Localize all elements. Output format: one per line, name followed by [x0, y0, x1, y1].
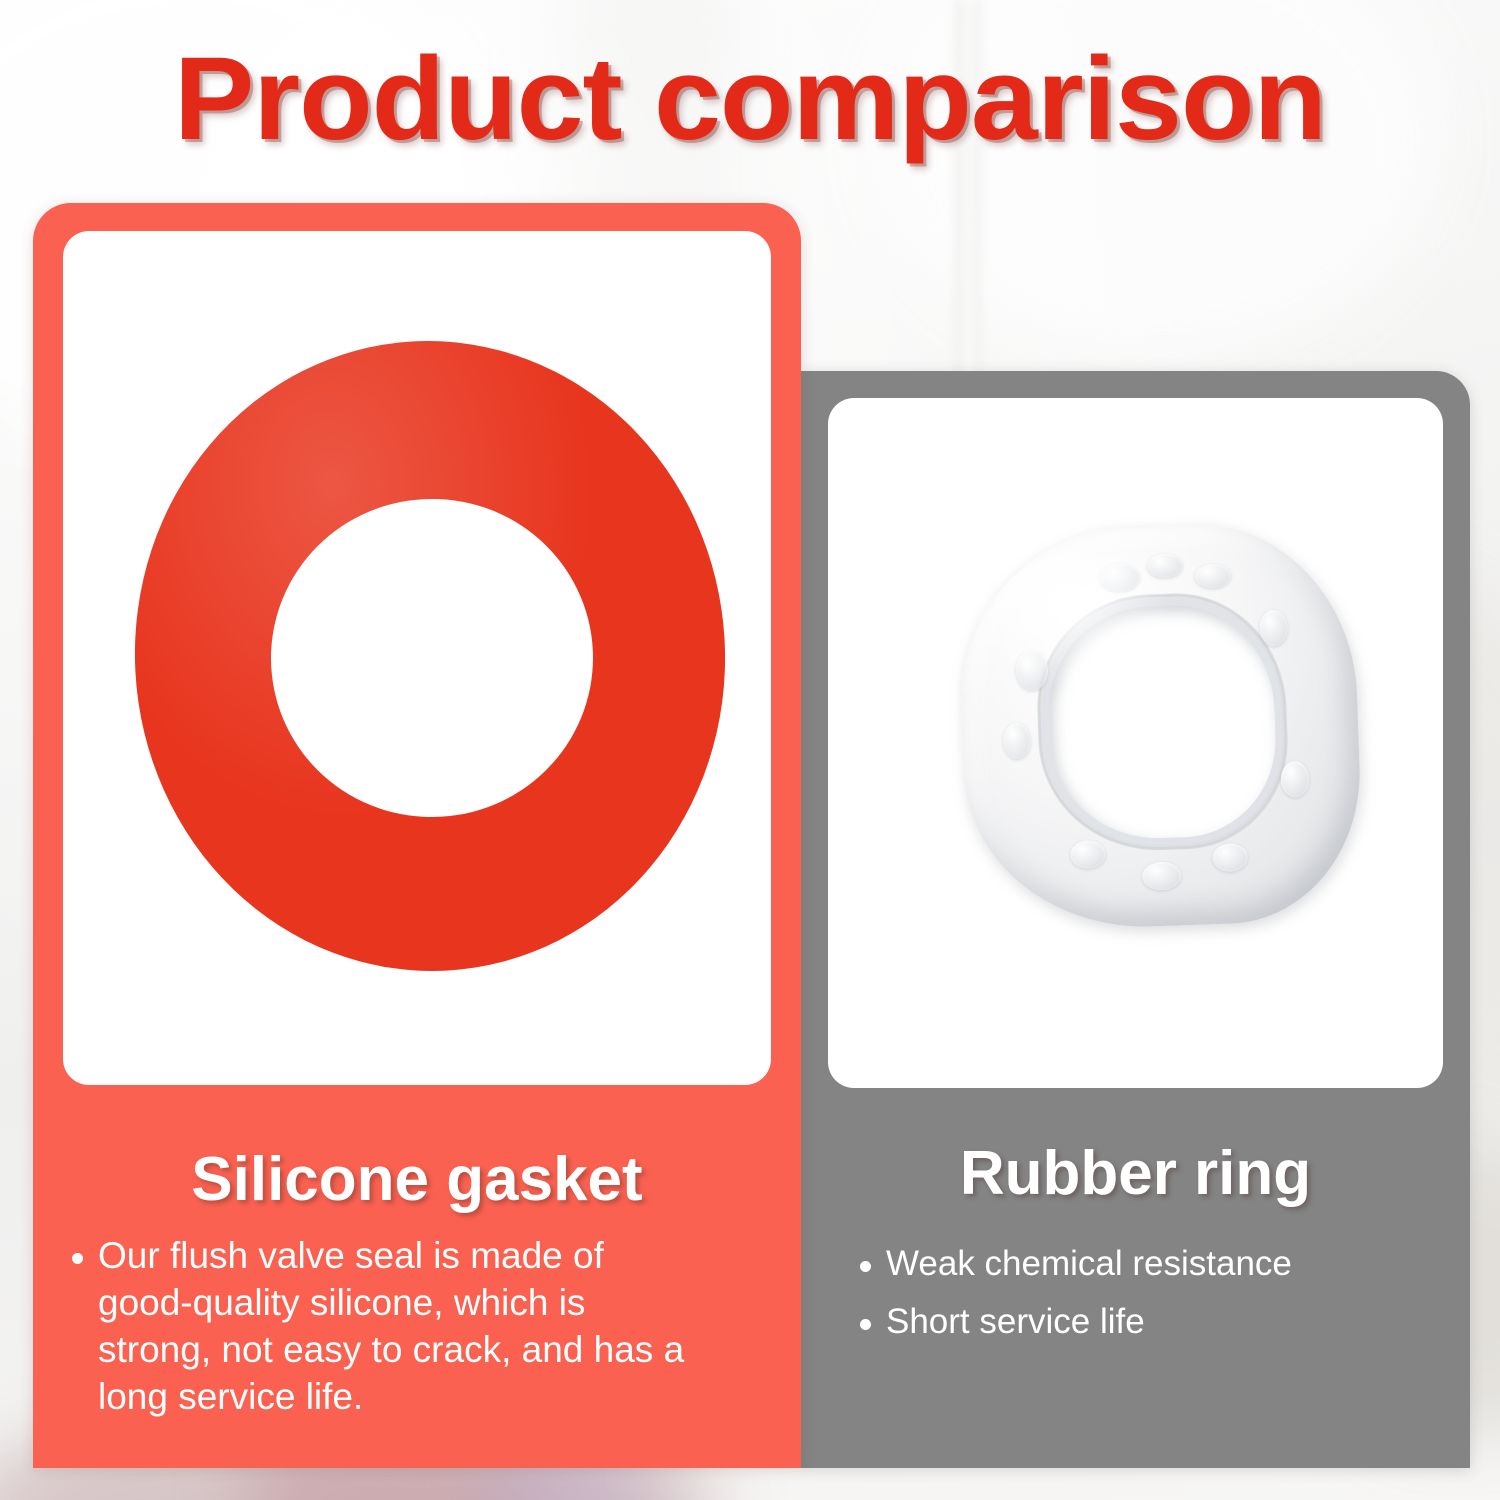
- rubber-ring-hole: [1046, 602, 1279, 842]
- rubber-ring-bump: [1280, 761, 1309, 798]
- product-comparison-page: Product comparison: [0, 0, 1500, 1500]
- page-title: Product comparison: [0, 40, 1500, 158]
- card-rubber-ring: [801, 371, 1470, 1468]
- red-silicone-ring-icon: [135, 341, 725, 971]
- product-photo-silicone-gasket: [63, 231, 771, 1085]
- product-photo-rubber-ring: [828, 398, 1443, 1088]
- white-rubber-ring-icon: [956, 519, 1365, 933]
- card-silicone-gasket: [33, 203, 801, 1468]
